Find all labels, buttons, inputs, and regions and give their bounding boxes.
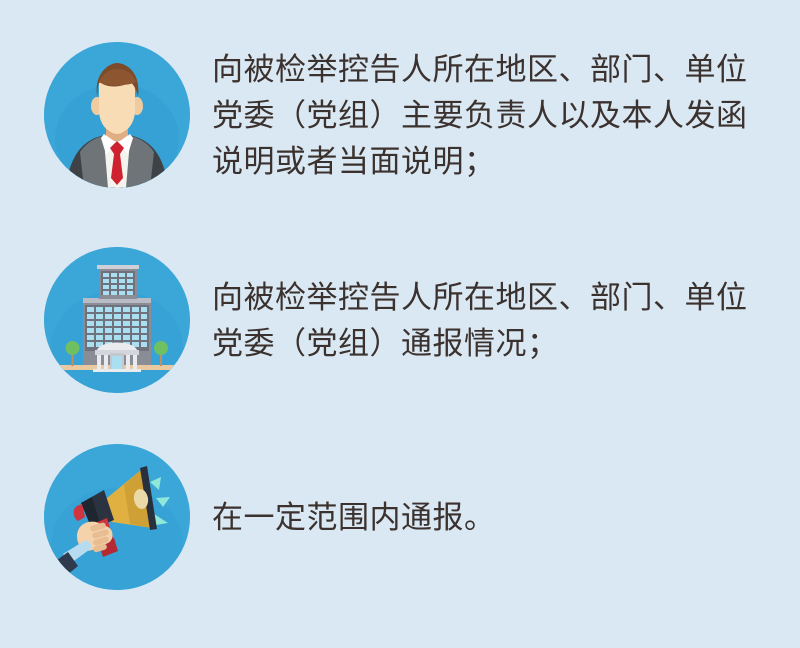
item-text-column: 在一定范围内通报。 [212,495,800,541]
megaphone-announcement-icon [44,444,190,590]
list-item-text: 向被检举控告人所在地区、部门、单位党委（党组）主要负责人以及本人发函说明或者当面… [212,47,760,185]
icon-container [42,41,192,191]
list-item: 向被检举控告人所在地区、部门、单位党委（党组）主要负责人以及本人发函说明或者当面… [0,41,800,191]
government-building-icon [44,247,190,393]
businessman-avatar-icon [44,42,190,188]
list-item-text: 向被检举控告人所在地区、部门、单位党委（党组）通报情况； [212,275,760,367]
list-item: 在一定范围内通报。 [0,443,800,593]
list-item: 向被检举控告人所在地区、部门、单位党委（党组）通报情况； [0,246,800,396]
item-text-column: 向被检举控告人所在地区、部门、单位党委（党组）通报情况； [212,275,800,367]
infographic-page: 向被检举控告人所在地区、部门、单位党委（党组）主要负责人以及本人发函说明或者当面… [0,0,800,648]
item-text-column: 向被检举控告人所在地区、部门、单位党委（党组）主要负责人以及本人发函说明或者当面… [212,47,800,185]
list-item-text: 在一定范围内通报。 [212,495,760,541]
icon-container [42,443,192,593]
icon-container [42,246,192,396]
